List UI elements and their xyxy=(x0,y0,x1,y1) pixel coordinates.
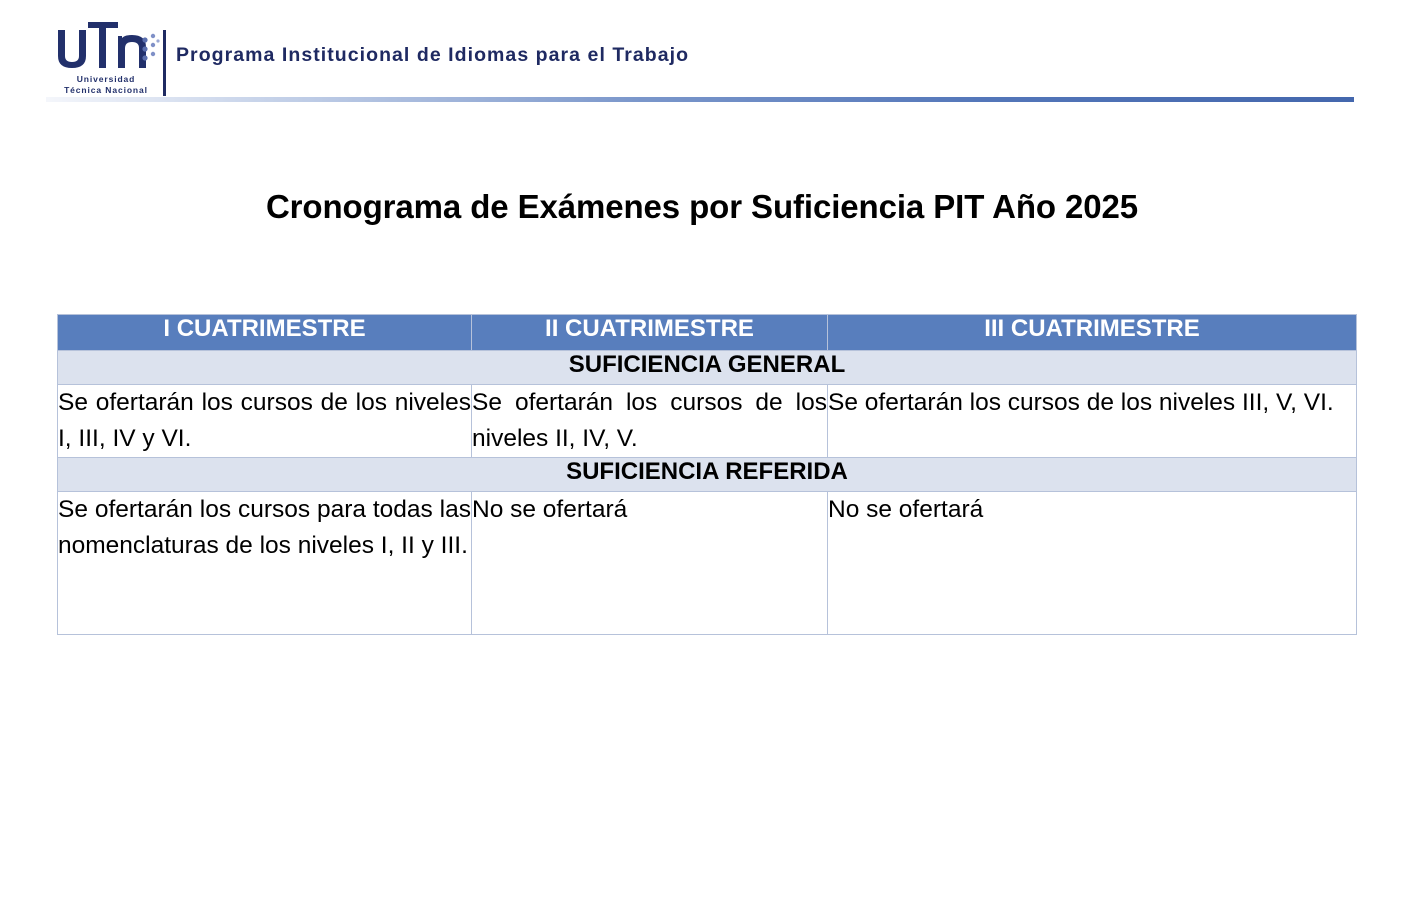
program-title: Programa Institucional de Idiomas para e… xyxy=(176,44,689,67)
page-title: Cronograma de Exámenes por Suficiencia P… xyxy=(0,188,1404,226)
section-band-general: SUFICIENCIA GENERAL xyxy=(58,351,1357,385)
exam-schedule-table: I CUATRIMESTRE II CUATRIMESTRE III CUATR… xyxy=(57,314,1357,635)
cell-referida-q1: Se ofertarán los cursos para todas las n… xyxy=(58,492,472,635)
header-vertical-divider xyxy=(163,30,166,96)
table-row-referida: Se ofertarán los cursos para todas las n… xyxy=(58,492,1357,635)
cell-general-q2: Se ofertarán los cursos de los niveles I… xyxy=(472,385,828,458)
cell-general-q3: Se ofertarán los cursos de los niveles I… xyxy=(828,385,1357,458)
column-header-q3: III CUATRIMESTRE xyxy=(828,315,1357,351)
header-horizontal-rule xyxy=(46,97,1354,102)
cell-general-q1: Se ofertarán los cursos de los niveles I… xyxy=(58,385,472,458)
utn-logo-subtitle-line1: Universidad xyxy=(52,74,160,85)
table-header-row: I CUATRIMESTRE II CUATRIMESTRE III CUATR… xyxy=(58,315,1357,351)
section-band-general-label: SUFICIENCIA GENERAL xyxy=(58,351,1357,385)
utn-logo: Universidad Técnica Nacional xyxy=(52,18,160,96)
section-band-referida-label: SUFICIENCIA REFERIDA xyxy=(58,458,1357,492)
cell-referida-q3: No se ofertará xyxy=(828,492,1357,635)
section-band-referida: SUFICIENCIA REFERIDA xyxy=(58,458,1357,492)
column-header-q2: II CUATRIMESTRE xyxy=(472,315,828,351)
utn-logo-mark xyxy=(52,18,160,74)
utn-logo-subtitle-line2: Técnica Nacional xyxy=(52,85,160,96)
utn-logo-subtitle: Universidad Técnica Nacional xyxy=(52,74,160,95)
site-header: Universidad Técnica Nacional Programa In… xyxy=(0,0,1404,105)
column-header-q1: I CUATRIMESTRE xyxy=(58,315,472,351)
cell-referida-q2: No se ofertará xyxy=(472,492,828,635)
table-row-general: Se ofertarán los cursos de los niveles I… xyxy=(58,385,1357,458)
